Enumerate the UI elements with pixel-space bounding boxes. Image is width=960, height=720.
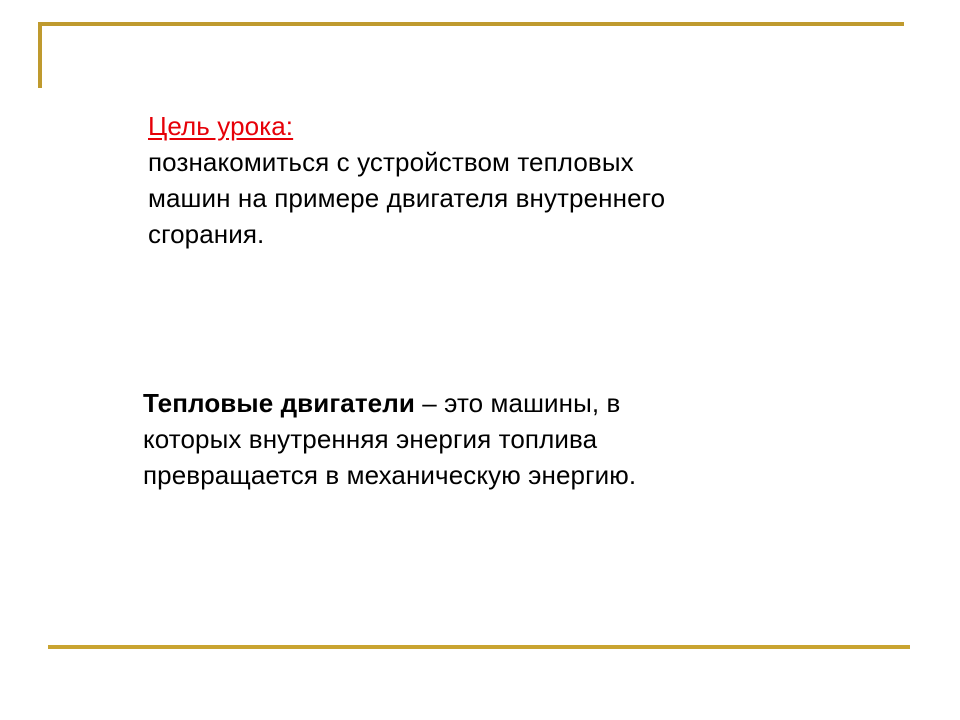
definition-line-1: Тепловые двигатели – это машины, в [143, 385, 873, 421]
lesson-goal-line-1: познакомиться с устройством тепловых [148, 144, 848, 180]
lesson-goal-block: Цель урока: познакомиться с устройством … [148, 108, 848, 252]
slide-canvas: Цель урока: познакомиться с устройством … [0, 0, 960, 720]
lesson-goal-heading-line: Цель урока: [148, 108, 848, 144]
left-gold-rule [38, 22, 42, 88]
definition-line-3: превращается в механическую энергию. [143, 457, 873, 493]
lesson-goal-heading: Цель урока: [148, 111, 293, 141]
definition-line-2: которых внутренняя энергия топлива [143, 421, 873, 457]
bottom-gold-rule [48, 645, 910, 649]
definition-line-1-rest: – это машины, в [415, 388, 621, 418]
heat-engine-term: Тепловые двигатели [143, 388, 415, 418]
heat-engine-definition-block: Тепловые двигатели – это машины, в котор… [143, 385, 873, 493]
lesson-goal-line-2: машин на примере двигателя внутреннего [148, 180, 848, 216]
top-gold-rule [38, 22, 904, 26]
lesson-goal-line-3: сгорания. [148, 216, 848, 252]
